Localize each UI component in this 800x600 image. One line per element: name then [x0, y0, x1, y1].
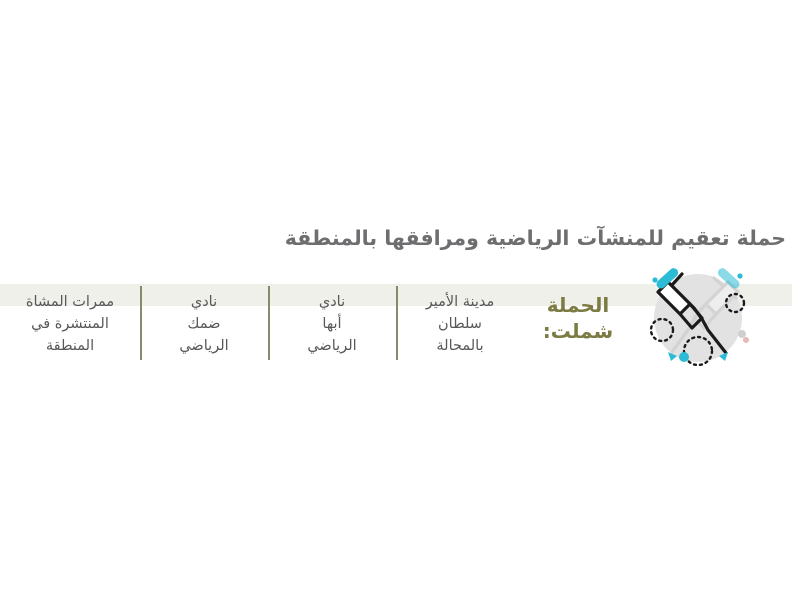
item-divider	[396, 286, 398, 360]
campaign-item-4-text: ممرات المشاة المنتشرة في المنطقة	[0, 291, 140, 357]
spray-bottle-sanitizer-icon	[632, 256, 764, 376]
page-title: حملة تعقيم للمنشآت الرياضية ومرافقها بال…	[0, 226, 786, 252]
item-divider	[268, 286, 270, 360]
item-divider	[140, 286, 142, 360]
campaign-included-label: الحملة شملت:	[524, 284, 632, 345]
campaign-included-label-text: الحملة شملت:	[524, 292, 632, 345]
campaign-item-3-text: نادي ضمك الرياضي	[140, 291, 268, 357]
infographic-root: حملة تعقيم للمنشآت الرياضية ومرافقها بال…	[0, 0, 800, 600]
campaign-item-1-text: مدينة الأمير سلطان بالمحالة	[396, 291, 524, 357]
campaign-item-4: ممرات المشاة المنتشرة في المنطقة	[0, 284, 140, 357]
campaign-item-3: نادي ضمك الرياضي	[140, 284, 268, 357]
campaign-item-2: نادي أبها الرياضي	[268, 284, 396, 357]
page-title-text: حملة تعقيم للمنشآت الرياضية ومرافقها بال…	[285, 226, 786, 252]
campaign-items-row: الحملة شملت: مدينة الأمير سلطان بالمحالة…	[0, 284, 800, 370]
campaign-item-2-text: نادي أبها الرياضي	[268, 291, 396, 357]
campaign-item-1: مدينة الأمير سلطان بالمحالة	[396, 284, 524, 357]
